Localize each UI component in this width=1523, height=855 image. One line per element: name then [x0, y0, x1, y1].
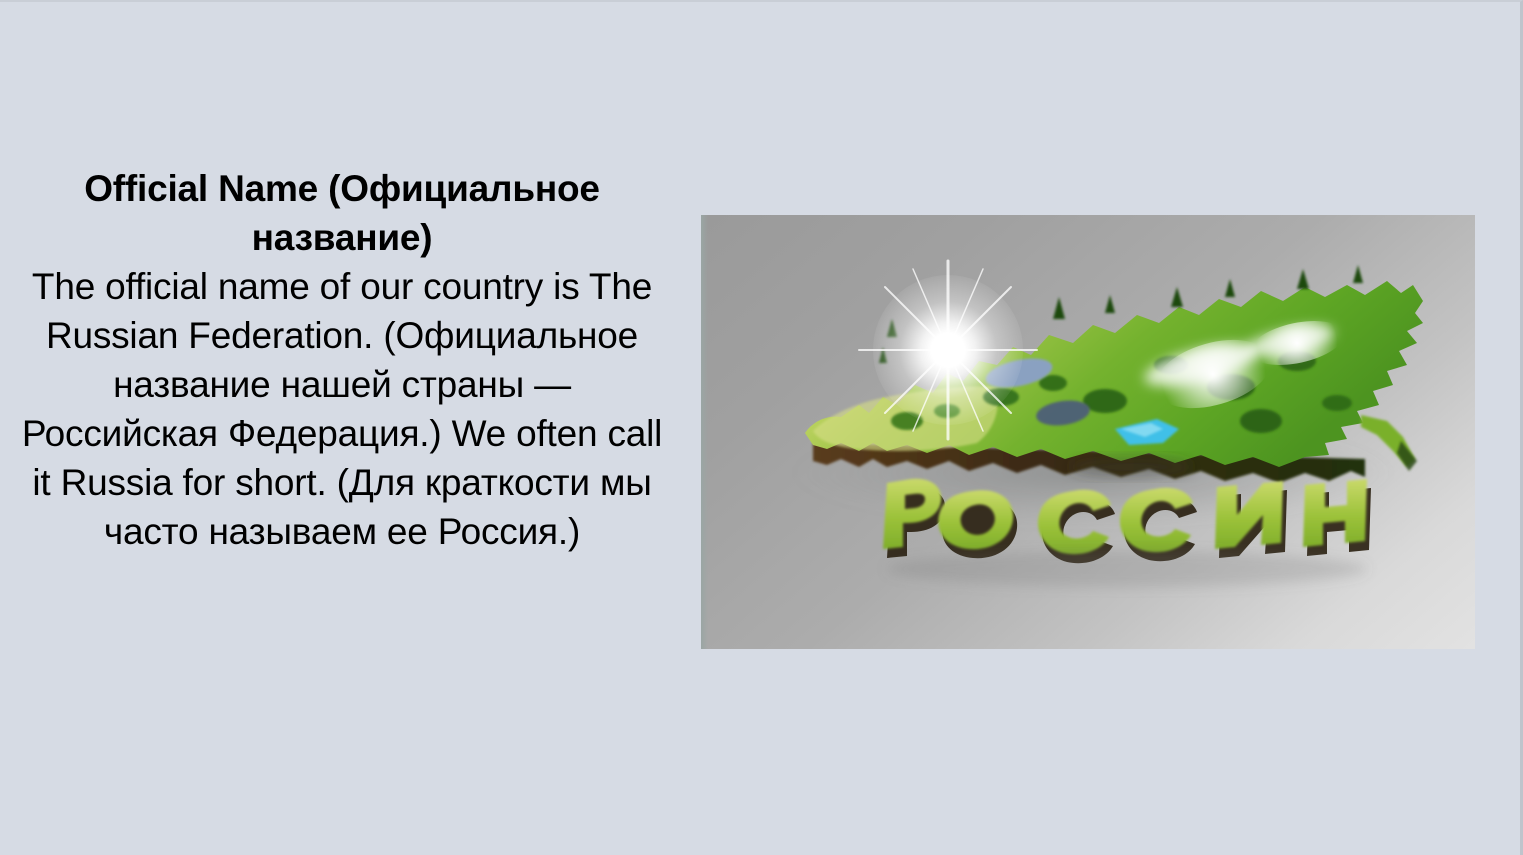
- slide: Official Name (Официальное название) The…: [0, 0, 1523, 855]
- page-title: Official Name (Официальное название): [17, 164, 667, 262]
- map-illustration: [701, 215, 1475, 649]
- russia-map-image: [701, 215, 1475, 649]
- slide-text-column: Official Name (Официальное название) The…: [17, 164, 667, 556]
- slide-body-text: The official name of our country is The …: [17, 262, 667, 556]
